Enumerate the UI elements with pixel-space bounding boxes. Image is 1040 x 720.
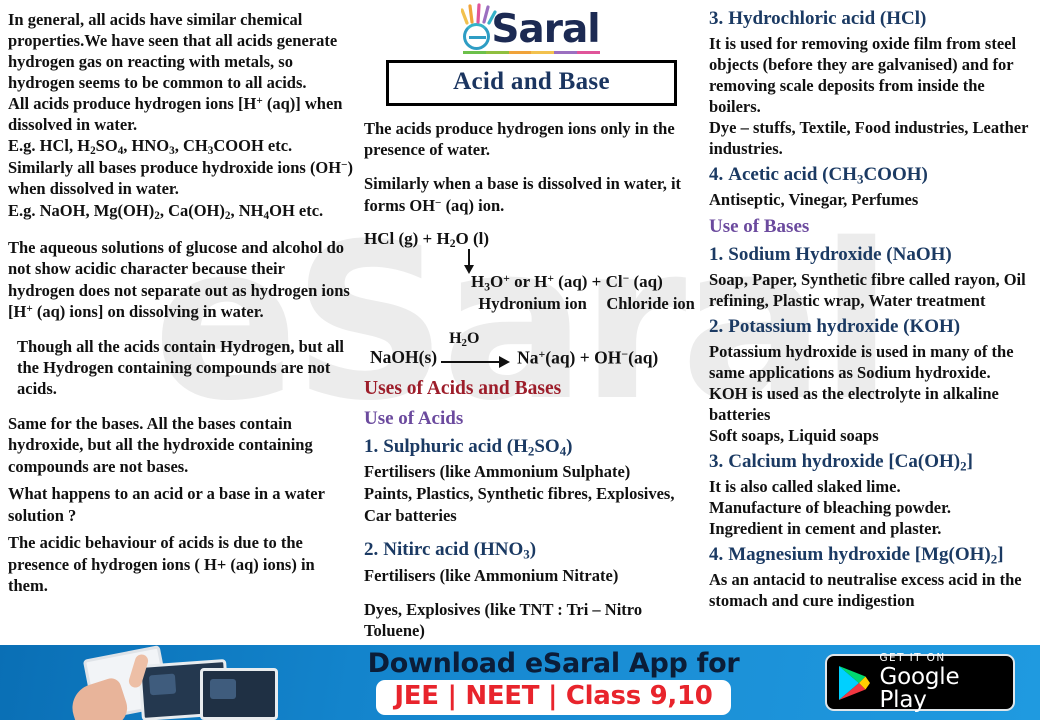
base-item-potassium-hydroxide: 2.Potassium hydroxide (KOH) Potassium hy…: [709, 316, 1036, 447]
base-use-line: As an antacid to neutralise excess acid …: [709, 570, 1036, 612]
acid-name-nitric: 2.Nitirc acid (HNO3): [364, 539, 699, 562]
left-column: In general, all acids have similar chemi…: [0, 0, 360, 645]
base-use-line: Soft soaps, Liquid soaps: [709, 426, 1036, 447]
acid-use-line: Dyes, Explosives (like TNT : Tri – Nitro…: [364, 600, 699, 642]
heading-uses-of-acids-and-bases: Uses of Acids and Bases: [364, 377, 699, 400]
page-title: Acid and Base: [399, 68, 664, 96]
acid-item-acetic: 4.Acetic acid (CH3COOH) Antiseptic, Vine…: [709, 164, 1036, 211]
paragraph-intro: In general, all acids have similar chemi…: [8, 10, 354, 94]
acid-use-line: Paints, Plastics, Synthetic fibres, Expl…: [364, 483, 699, 526]
notes-content: In general, all acids have similar chemi…: [0, 0, 1040, 645]
banner-headline: Download eSaral App for: [368, 650, 740, 677]
base-name-calcium-hydroxide: 3.Calcium hydroxide [Ca(OH)2]: [709, 451, 1036, 474]
base-name-sodium-hydroxide: 1.Sodium Hydroxide (NaOH): [709, 244, 1036, 267]
base-use-line: Ingredient in cement and plaster.: [709, 519, 1036, 540]
acid-name-acetic: 4.Acetic acid (CH3COOH): [709, 164, 1036, 187]
heading-use-of-bases: Use of Bases: [709, 216, 1036, 239]
paragraph-acidic-behaviour: The acidic behaviour of acids is due to …: [8, 532, 354, 596]
base-item-magnesium-hydroxide: 4.Magnesium hydroxide [Mg(OH)2] As an an…: [709, 544, 1036, 612]
middle-column: Saral Acid and Base The acids produce hy…: [360, 0, 705, 645]
reaction-naoh-reactant: NaOH(s): [370, 347, 437, 370]
acid-use-line: Fertilisers (like Ammonium Sulphate): [364, 462, 699, 483]
reaction-hcl-labels: Hydronium ion Chloride ion: [364, 295, 699, 314]
paragraph-base-examples: E.g. NaOH, Mg(OH)2, Ca(OH)2, NH4OH etc.: [8, 200, 354, 224]
acid-item-sulphuric: 1.Sulphuric acid (H2SO4) Fertilisers (li…: [364, 436, 699, 526]
acid-number-3: 3.: [709, 8, 723, 29]
acid-use-line: Fertilisers (like Ammonium Nitrate): [364, 565, 699, 586]
esaral-logo: Saral: [364, 4, 699, 54]
logo-sunburst-icon: [461, 3, 497, 25]
acid-use-line: Dye – stuffs, Textile, Food industries, …: [709, 118, 1036, 160]
down-arrow-icon: [461, 249, 477, 274]
base-use-line: Manufacture of bleaching powder.: [709, 498, 1036, 519]
heading-use-of-acids: Use of Acids: [364, 408, 699, 431]
acid-item-nitric: 2.Nitirc acid (HNO3) Fertilisers (like A…: [364, 539, 699, 641]
base-name-potassium-hydroxide: 2.Potassium hydroxide (KOH): [709, 316, 1036, 339]
right-column: 3.Hydrochloric acid (HCl) It is used for…: [705, 0, 1040, 645]
reaction-naoh-products: Na+(aq) + OH−(aq): [517, 347, 658, 370]
paragraph-bases-note: Same for the bases. All the bases contai…: [8, 413, 354, 477]
acid-use-line: Antiseptic, Vinegar, Perfumes: [709, 190, 1036, 211]
banner-text-group: Download eSaral App for JEE | NEET | Cla…: [290, 650, 817, 715]
paragraph-base-dissolved: Similarly when a base is dissolved in wa…: [364, 173, 699, 216]
acid-number-2: 2.: [364, 539, 378, 560]
google-play-icon: [837, 664, 871, 702]
logo-e-mark-icon: [463, 23, 490, 50]
base-name-magnesium-hydroxide: 4.Magnesium hydroxide [Mg(OH)2]: [709, 544, 1036, 567]
acid-number-4: 4.: [709, 164, 723, 185]
page-title-box: Acid and Base: [386, 60, 677, 106]
reaction-hcl-reactants: HCl (g) + H2O (l): [364, 229, 699, 250]
base-item-sodium-hydroxide: 1.Sodium Hydroxide (NaOH) Soap, Paper, S…: [709, 244, 1036, 312]
paragraph-glucose-alcohol: The aqueous solutions of glucose and alc…: [8, 237, 354, 323]
notes-page: eSaral In general, all acids have simila…: [0, 0, 1040, 720]
reaction-hcl-products: H3O+ or H+ (aq) + Cl− (aq): [364, 272, 699, 294]
base-number-3: 3.: [709, 451, 723, 472]
right-arrow-icon: H2O: [441, 330, 513, 370]
app-download-banner[interactable]: Download eSaral App for JEE | NEET | Cla…: [0, 645, 1040, 720]
reaction-naoh-arrow-label: H2O: [449, 330, 479, 349]
base-number-2: 2.: [709, 316, 723, 337]
tablet-front-icon: [200, 668, 278, 720]
acid-number-1: 1.: [364, 436, 378, 457]
paragraph-acid-examples: E.g. HCl, H2SO4, HNO3, CH3COOH etc.: [8, 136, 354, 158]
paragraph-acids-water: The acids produce hydrogen ions only in …: [364, 118, 699, 161]
label-hydronium-ion: Hydronium ion: [471, 295, 594, 314]
acid-item-hydrochloric: 3.Hydrochloric acid (HCl) It is used for…: [709, 8, 1036, 160]
base-item-calcium-hydroxide: 3.Calcium hydroxide [Ca(OH)2] It is also…: [709, 451, 1036, 540]
logo-wordmark: Saral: [491, 7, 599, 52]
tablet-illustration: [0, 645, 300, 720]
paragraph-hydrogen-ions: All acids produce hydrogen ions [H+ (aq)…: [8, 94, 354, 136]
reaction-naoh: NaOH(s) H2O Na+(aq) + OH−(aq): [370, 330, 699, 370]
acid-name-hydrochloric: 3.Hydrochloric acid (HCl): [709, 8, 1036, 31]
paragraph-question: What happens to an acid or a base in a w…: [8, 483, 354, 526]
banner-exam-pill: JEE | NEET | Class 9,10: [376, 680, 730, 715]
google-play-big-label: Google Play: [880, 666, 1003, 712]
base-use-line: It is also called slaked lime.: [709, 477, 1036, 498]
label-chloride-ion: Chloride ion: [602, 295, 699, 314]
base-number-1: 1.: [709, 244, 723, 265]
base-use-line: Potassium hydroxide is used in many of t…: [709, 342, 1036, 384]
acid-name-sulphuric: 1.Sulphuric acid (H2SO4): [364, 436, 699, 459]
paragraph-hydroxide-ions: Similarly all bases produce hydroxide io…: [8, 158, 354, 200]
google-play-small-label: GET IT ON: [880, 653, 1003, 664]
paragraph-hydrogen-note: Though all the acids contain Hydrogen, b…: [8, 336, 354, 400]
base-number-4: 4.: [709, 544, 723, 565]
reaction-hcl: HCl (g) + H2O (l) H3O+ or H+ (aq) + Cl− …: [364, 229, 699, 314]
acid-use-line: It is used for removing oxide film from …: [709, 34, 1036, 118]
base-use-line: KOH is used as the electrolyte in alkali…: [709, 384, 1036, 426]
google-play-button[interactable]: GET IT ON Google Play: [817, 654, 1022, 711]
base-use-line: Soap, Paper, Synthetic fibre called rayo…: [709, 270, 1036, 312]
